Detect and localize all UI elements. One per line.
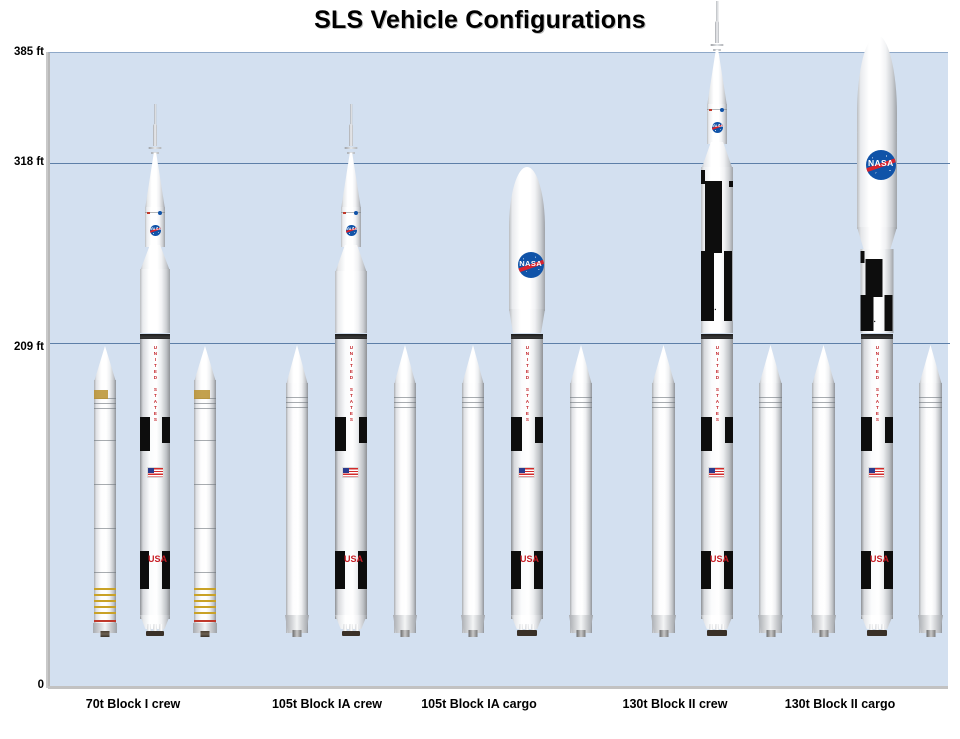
stage-adapter: [701, 142, 733, 170]
capsule-window: [354, 211, 358, 215]
srb-aft-band: [194, 606, 216, 608]
booster-seam: [394, 407, 416, 408]
booster-seam: [394, 397, 416, 398]
booster-nozzle: [577, 630, 586, 637]
srb-aft-band: [94, 594, 116, 596]
segment-line: [194, 572, 216, 573]
stage-adapter: [335, 245, 367, 273]
engine-shadow: [867, 630, 887, 636]
y-tick-label-385: 385 ft: [2, 46, 44, 58]
segment-line: [194, 408, 216, 409]
x-label-block-1-crew: 70t Block I crew: [48, 697, 218, 711]
nasa-meatball-icon: NASA: [866, 150, 896, 180]
booster-nose-cone: [570, 345, 592, 385]
booster-seam: [759, 407, 782, 408]
booster-seam: [570, 397, 592, 398]
booster-nose-cone: [462, 345, 484, 385]
booster-seam: [286, 397, 308, 398]
meatball-wordmark: NASA: [712, 125, 723, 128]
booster-nose-cone: [812, 345, 835, 385]
core-forward-black-panel: [335, 417, 346, 451]
booster-nozzle: [819, 630, 828, 637]
las-abort-motor: [349, 124, 353, 146]
core-stage: UNITED STATES USA: [701, 339, 733, 619]
us-flag-icon: [342, 467, 359, 478]
booster-nozzle: [401, 630, 410, 637]
booster-left-advanced: [462, 345, 484, 633]
booster-seam: [462, 407, 484, 408]
upper-stage: [335, 271, 367, 333]
core-stage: UNITED STATES USA: [511, 339, 543, 619]
booster-seam: [286, 407, 308, 408]
x-label-block-1a-cargo: 105t Block IA cargo: [391, 697, 567, 711]
checker-square: [884, 295, 893, 331]
srb-aft-skirt-ring: [194, 620, 216, 622]
nasa-meatball-icon: NASA: [346, 225, 357, 236]
booster-body: [286, 383, 308, 633]
core-forward-black-panel: [140, 417, 150, 451]
srb-field-joint: [194, 390, 210, 399]
upper-stage: [140, 269, 170, 333]
las-fin: [345, 147, 358, 150]
segment-line: [94, 408, 116, 409]
flag-canton: [343, 468, 349, 473]
us-flag-icon: [147, 467, 164, 478]
y-axis: 385 ft 318 ft 209 ft 0: [0, 0, 44, 739]
segment-line: [194, 528, 216, 529]
booster-seam: [759, 402, 782, 403]
engine-shadow: [707, 630, 727, 636]
checker-square: [861, 295, 874, 331]
core-stack: NASA UNITED STATES USA: [511, 167, 543, 633]
booster-nose-cone: [394, 345, 416, 385]
meatball-wordmark: NASA: [866, 159, 896, 168]
booster-body: [94, 380, 116, 633]
upper-stage-checkerboard: ▪: [701, 167, 733, 333]
booster-seam: [652, 407, 675, 408]
stage-adapter: [140, 245, 170, 271]
segment-line: [194, 440, 216, 441]
orion-capsule: [341, 153, 361, 209]
checker-square: [724, 251, 732, 321]
booster-nose-cone: [194, 346, 216, 382]
capsule-marking: [147, 212, 150, 214]
usa-decal: USA: [710, 555, 724, 563]
united-states-decal: UNITED STATES: [153, 345, 157, 423]
capsule-marking: [709, 109, 712, 111]
united-states-decal: UNITED STATES: [349, 345, 353, 423]
payload-fairing-nose: [509, 167, 545, 245]
stage-marking: ▪: [714, 307, 716, 313]
segment-line: [94, 403, 116, 404]
meatball-wordmark: NASA: [518, 260, 544, 268]
fairing-boat-tail: [857, 227, 897, 251]
booster-body: [194, 380, 216, 633]
chart-plot-area: NASA UNITED STATES: [48, 52, 948, 686]
booster-nozzle: [659, 630, 668, 637]
service-module: NASA: [341, 207, 361, 247]
fairing-boat-tail: [509, 309, 545, 333]
orion-capsule: [707, 50, 727, 106]
us-flag-icon: [868, 467, 885, 478]
checker-square: [861, 251, 865, 263]
y-tick-label-318: 318 ft: [2, 156, 44, 168]
core-forward-black-panel: [725, 417, 733, 443]
booster-nozzle: [766, 630, 775, 637]
united-states-decal: UNITED STATES: [715, 345, 719, 423]
y-tick-label-0: 0: [2, 679, 44, 691]
core-forward-black-panel: [359, 417, 367, 443]
checker-square: [866, 259, 883, 297]
booster-right-advanced: [570, 345, 592, 633]
core-forward-black-panel: [162, 417, 170, 443]
segment-line: [94, 528, 116, 529]
x-label-block-2-cargo: 130t Block II cargo: [752, 697, 928, 711]
booster-seam: [919, 397, 942, 398]
meatball-wordmark: NASA: [150, 228, 161, 231]
booster-seam: [570, 402, 592, 403]
segment-line: [94, 572, 116, 573]
booster-nozzle: [469, 630, 478, 637]
nasa-meatball-icon: NASA: [712, 122, 723, 133]
srb-nozzle: [101, 631, 110, 637]
service-module: NASA: [707, 104, 727, 144]
engine-shadow: [342, 631, 360, 636]
booster-right-advanced: [394, 345, 416, 633]
booster-seam: [812, 397, 835, 398]
srb-aft-band: [94, 612, 116, 614]
us-flag-icon: [708, 467, 725, 478]
vehicle-block-1a-cargo[interactable]: NASA UNITED STATES USA: [452, 0, 602, 633]
flag-canton: [709, 468, 715, 473]
engine-shadow: [146, 631, 164, 636]
booster-nose-cone: [919, 345, 942, 385]
las-abort-motor: [153, 124, 157, 146]
us-flag-icon: [518, 467, 535, 478]
booster-left-advanced: [812, 345, 835, 633]
core-stack: NASA ▪ UNITED STATES: [861, 35, 893, 633]
flag-canton: [869, 468, 875, 473]
booster-body: [652, 383, 675, 633]
core-stack: NASA UNITED STATES: [140, 104, 170, 633]
booster-left-advanced: [652, 345, 675, 633]
checker-square: [701, 170, 705, 184]
payload-fairing-body: NASA: [509, 241, 545, 311]
checker-square: [701, 251, 714, 321]
core-stage: UNITED STATES USA: [140, 339, 170, 619]
core-stage: UNITED STATES USA: [335, 339, 367, 619]
engine-shadow: [517, 630, 537, 636]
srb-field-joint: [94, 390, 108, 399]
booster-right-advanced: [759, 345, 782, 633]
payload-fairing-nose: [857, 35, 897, 136]
vehicle-block-2-crew[interactable]: NASA ▪ UNITED STATES: [642, 0, 792, 633]
booster-seam: [462, 402, 484, 403]
vehicle-block-1a-crew[interactable]: NASA UNITED STATES USA: [276, 0, 426, 633]
booster-seam: [570, 407, 592, 408]
x-axis-labels: 70t Block I crew 105t Block IA crew 105t…: [0, 697, 960, 721]
las-abort-motor: [715, 21, 719, 43]
orion-capsule: [145, 153, 165, 209]
booster-nose-cone: [94, 346, 116, 382]
core-forward-black-panel: [701, 417, 712, 451]
las-fin: [149, 147, 162, 150]
flag-canton: [519, 468, 525, 473]
segment-line: [94, 440, 116, 441]
united-states-decal: UNITED STATES: [525, 345, 529, 423]
united-states-decal: UNITED STATES: [875, 345, 879, 423]
service-module: NASA: [145, 207, 165, 247]
srb-aft-band: [194, 588, 216, 590]
booster-body: [462, 383, 484, 633]
srb-aft-band: [94, 600, 116, 602]
nasa-meatball-icon: NASA: [518, 252, 544, 278]
checker-square: [705, 181, 722, 253]
segment-line: [94, 484, 116, 485]
booster-nose-cone: [286, 345, 308, 385]
x-label-block-1a-crew: 105t Block IA crew: [242, 697, 412, 711]
srb-aft-band: [194, 612, 216, 614]
booster-right-advanced: [919, 345, 942, 633]
upper-stage-checkerboard: ▪: [861, 249, 894, 333]
capsule-marking: [343, 212, 346, 214]
booster-nozzle: [926, 630, 935, 637]
srb-aft-band: [194, 594, 216, 596]
core-stage: UNITED STATES USA: [861, 339, 893, 619]
srb-nozzle: [201, 631, 210, 637]
booster-seam: [759, 397, 782, 398]
booster-body: [812, 383, 835, 633]
axis-baseline: [48, 686, 948, 689]
booster-nozzle: [293, 630, 302, 637]
booster-body: [394, 383, 416, 633]
x-label-block-2-crew: 130t Block II crew: [592, 697, 758, 711]
capsule-window: [158, 211, 162, 215]
core-forward-black-panel: [535, 417, 543, 443]
srb-aft-band: [194, 600, 216, 602]
booster-right-srb: [194, 346, 216, 633]
stage-marking: ▪: [874, 319, 876, 325]
segment-line: [194, 403, 216, 404]
booster-left-srb: [94, 346, 116, 633]
booster-nose-cone: [652, 345, 675, 385]
capsule-window: [720, 108, 724, 112]
core-stack: NASA UNITED STATES USA: [335, 104, 367, 633]
usa-decal: USA: [148, 555, 162, 563]
meatball-wordmark: NASA: [346, 228, 357, 231]
srb-aft-band: [94, 606, 116, 608]
payload-fairing-body: NASA: [857, 133, 897, 229]
vehicle-block-1-crew[interactable]: NASA UNITED STATES: [80, 0, 230, 633]
booster-left-advanced: [286, 345, 308, 633]
nasa-meatball-icon: NASA: [150, 225, 161, 236]
usa-decal: USA: [870, 555, 884, 563]
booster-nose-cone: [759, 345, 782, 385]
vehicle-block-2-cargo[interactable]: NASA ▪ UNITED STATES: [802, 0, 952, 633]
usa-decal: USA: [344, 555, 358, 563]
booster-body: [919, 383, 942, 633]
booster-seam: [652, 402, 675, 403]
booster-seam: [812, 407, 835, 408]
core-forward-black-panel: [511, 417, 522, 451]
core-forward-black-panel: [861, 417, 872, 451]
y-tick-label-209: 209 ft: [2, 341, 44, 353]
flag-canton: [148, 468, 154, 473]
booster-seam: [394, 402, 416, 403]
srb-aft-band: [94, 588, 116, 590]
checker-square: [729, 181, 733, 187]
booster-seam: [919, 407, 942, 408]
booster-body: [570, 383, 592, 633]
core-stack: NASA ▪ UNITED STATES: [701, 1, 733, 633]
booster-body: [759, 383, 782, 633]
srb-aft-skirt-ring: [94, 620, 116, 622]
las-fin: [711, 44, 724, 47]
booster-seam: [652, 397, 675, 398]
booster-seam: [919, 402, 942, 403]
usa-decal: USA: [520, 555, 534, 563]
booster-seam: [462, 397, 484, 398]
booster-seam: [812, 402, 835, 403]
booster-seam: [286, 402, 308, 403]
segment-line: [194, 484, 216, 485]
core-forward-black-panel: [885, 417, 893, 443]
